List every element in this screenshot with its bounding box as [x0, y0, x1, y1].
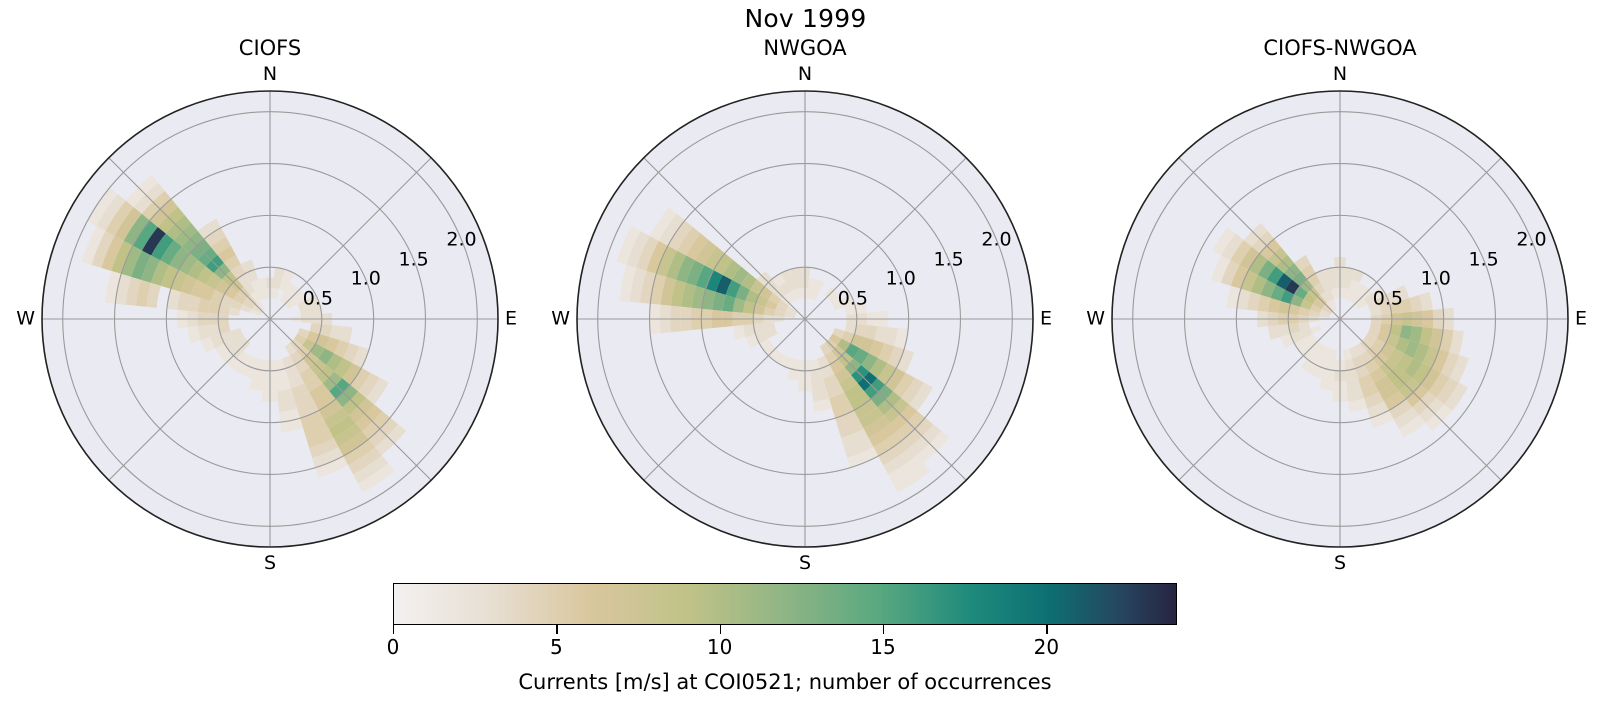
radial-tick-label: 1.0: [886, 270, 916, 289]
polar-panel-ciofs-nwgoa: CIOFS-NWGOA NSEW0.51.01.52.0: [1080, 36, 1600, 576]
compass-label-south: S: [264, 554, 276, 573]
colorbar-tick-label: 15: [870, 635, 895, 659]
colorbar-tick: [1046, 625, 1047, 634]
radial-tick-label: 2.0: [1516, 230, 1546, 249]
compass-label-west: W: [1086, 310, 1105, 329]
radial-tick-label: 1.5: [399, 250, 429, 269]
compass-label-north: N: [1333, 65, 1347, 84]
compass-label-west: W: [16, 310, 35, 329]
compass-label-east: E: [1040, 310, 1052, 329]
compass-label-east: E: [505, 310, 517, 329]
radial-tick-label: 0.5: [303, 290, 333, 309]
colorbar-tick: [720, 625, 721, 634]
figure-canvas: Nov 1999 CIOFS NSEW0.51.01.52.0 NWGOA NS…: [0, 0, 1611, 724]
compass-label-north: N: [263, 65, 277, 84]
compass-label-south: S: [1334, 554, 1346, 573]
panel-title-ciofs-nwgoa: CIOFS-NWGOA: [1080, 36, 1600, 60]
radial-tick-label: 0.5: [1373, 290, 1403, 309]
polar-rose-plot-ciofs: [10, 62, 530, 572]
colorbar-tick-label: 0: [387, 635, 400, 659]
radial-tick-label: 2.0: [981, 230, 1011, 249]
polar-panel-nwgoa: NWGOA NSEW0.51.01.52.0: [545, 36, 1065, 576]
radial-tick-label: 1.0: [1421, 270, 1451, 289]
compass-label-south: S: [799, 554, 811, 573]
radial-tick-label: 1.0: [351, 270, 381, 289]
colorbar-tick: [556, 625, 557, 634]
polar-rose-plot-nwgoa: [545, 62, 1065, 572]
panel-title-nwgoa: NWGOA: [545, 36, 1065, 60]
radial-tick-label: 1.5: [1469, 250, 1499, 269]
radial-tick-label: 0.5: [838, 290, 868, 309]
colorbar: 05101520: [393, 583, 1177, 625]
colorbar-gradient: [393, 583, 1177, 625]
compass-label-west: W: [551, 310, 570, 329]
colorbar-axis-label: Currents [m/s] at COI0521; number of occ…: [393, 670, 1177, 694]
colorbar-tick-label: 5: [550, 635, 563, 659]
colorbar-tick-label: 10: [707, 635, 732, 659]
colorbar-tick: [883, 625, 884, 634]
radial-tick-label: 1.5: [934, 250, 964, 269]
panel-title-ciofs: CIOFS: [10, 36, 530, 60]
polar-panel-ciofs: CIOFS NSEW0.51.01.52.0: [10, 36, 530, 576]
colorbar-tick-label: 20: [1034, 635, 1059, 659]
colorbar-tick: [393, 625, 394, 634]
figure-suptitle: Nov 1999: [0, 4, 1611, 33]
radial-tick-label: 2.0: [446, 230, 476, 249]
compass-label-north: N: [798, 65, 812, 84]
compass-label-east: E: [1575, 310, 1587, 329]
polar-rose-plot-ciofs-nwgoa: [1080, 62, 1600, 572]
